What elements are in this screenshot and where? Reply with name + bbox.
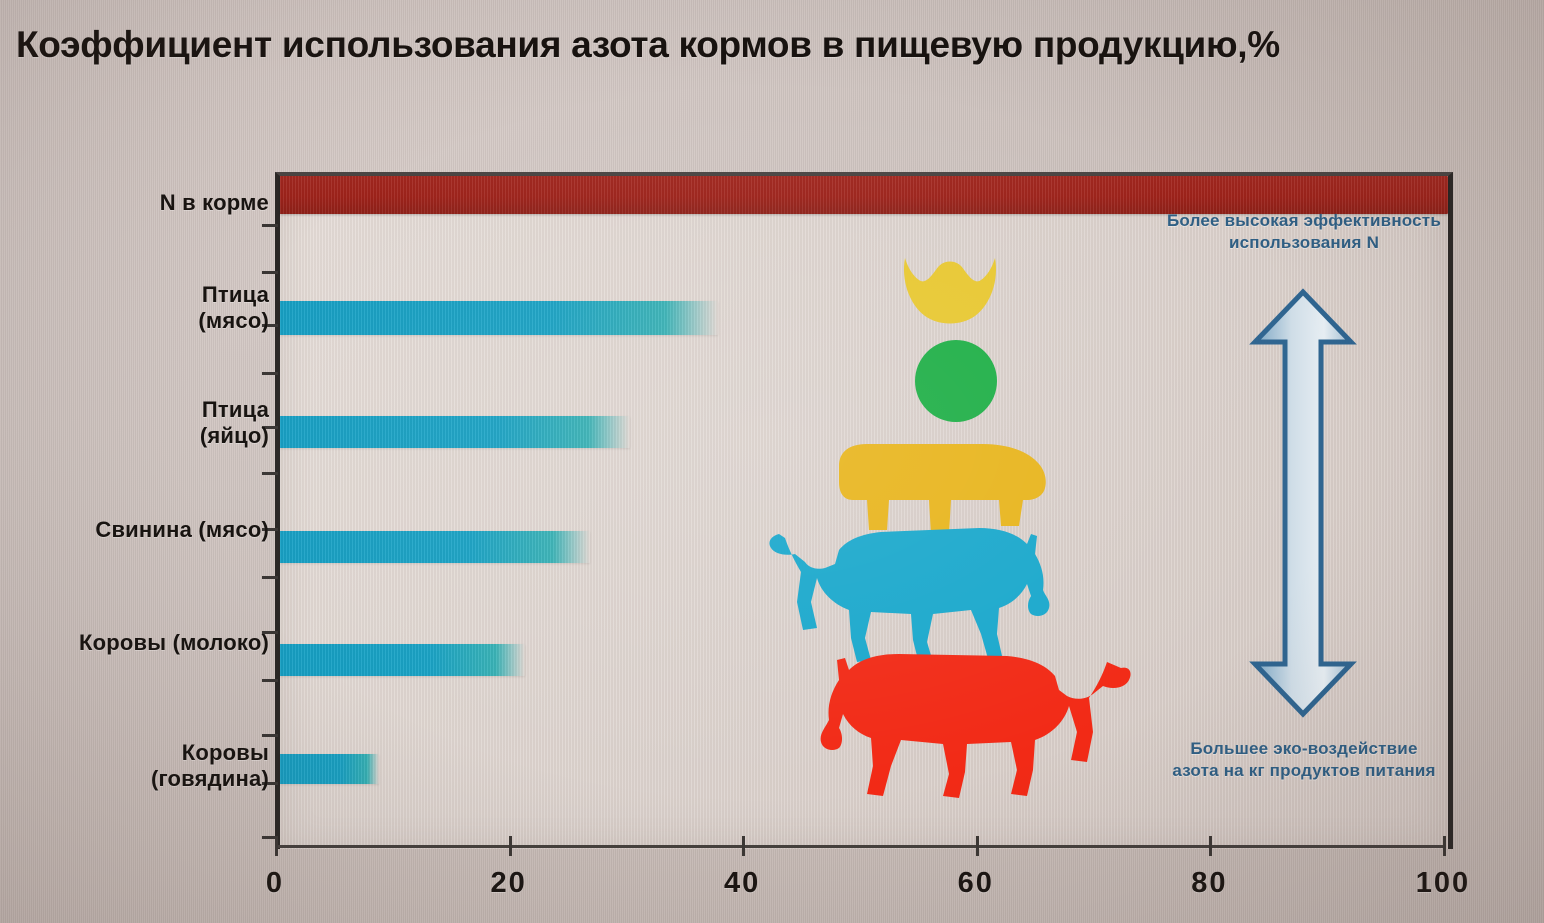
x-axis-label-40: 40 bbox=[724, 867, 760, 900]
y-axis-tick bbox=[262, 372, 278, 375]
chicken-icon bbox=[895, 250, 1005, 330]
x-axis-label-100: 100 bbox=[1416, 867, 1470, 900]
x-axis-label-60: 60 bbox=[958, 867, 994, 900]
bar-3 bbox=[280, 531, 590, 563]
efficiency-annotation: Более высокая эффективность использовани… bbox=[1165, 210, 1443, 850]
y-axis-tick bbox=[262, 224, 278, 227]
egg-icon bbox=[913, 338, 999, 424]
y-axis-tick bbox=[262, 734, 278, 737]
x-axis-tick-0 bbox=[275, 836, 278, 856]
bar-2 bbox=[280, 416, 630, 448]
annotation-bottom-text: Большее эко-воздействие азота на кг прод… bbox=[1165, 738, 1443, 782]
double-headed-vertical-arrow-icon bbox=[1247, 288, 1359, 718]
y-axis-label-5: Коровы (говядина) bbox=[151, 740, 269, 791]
x-axis-label-0: 0 bbox=[266, 867, 284, 900]
y-axis-label-4: Коровы (молоко) bbox=[79, 630, 269, 656]
y-axis-label-1: Птица (мясо) bbox=[198, 282, 269, 333]
y-axis-tick bbox=[262, 472, 278, 475]
y-axis-label-3: Свинина (мясо) bbox=[95, 517, 269, 543]
bar-5 bbox=[280, 754, 379, 784]
beef-cow-icon bbox=[797, 622, 1137, 822]
bar-1 bbox=[280, 301, 718, 335]
bar-0 bbox=[280, 176, 1448, 214]
y-axis-tick bbox=[262, 576, 278, 579]
page-title: Коэффициент использования азота кормов в… bbox=[16, 24, 1528, 66]
annotation-top-text: Более высокая эффективность использовани… bbox=[1165, 210, 1443, 254]
y-axis-tick bbox=[262, 679, 278, 682]
y-axis-label-0: N в корме bbox=[160, 190, 269, 216]
x-axis-label-80: 80 bbox=[1191, 867, 1227, 900]
x-axis-label-20: 20 bbox=[490, 867, 526, 900]
x-axis-tick-100 bbox=[1443, 836, 1446, 856]
x-axis-tick-20 bbox=[509, 836, 512, 856]
animal-icon-stack bbox=[745, 230, 1165, 850]
y-axis-tick bbox=[262, 271, 278, 274]
bar-4 bbox=[280, 644, 525, 676]
bar-chart: N в кормеПтица (мясо)Птица (яйцо)Свинина… bbox=[0, 150, 1544, 923]
y-axis-label-2: Птица (яйцо) bbox=[200, 397, 269, 448]
